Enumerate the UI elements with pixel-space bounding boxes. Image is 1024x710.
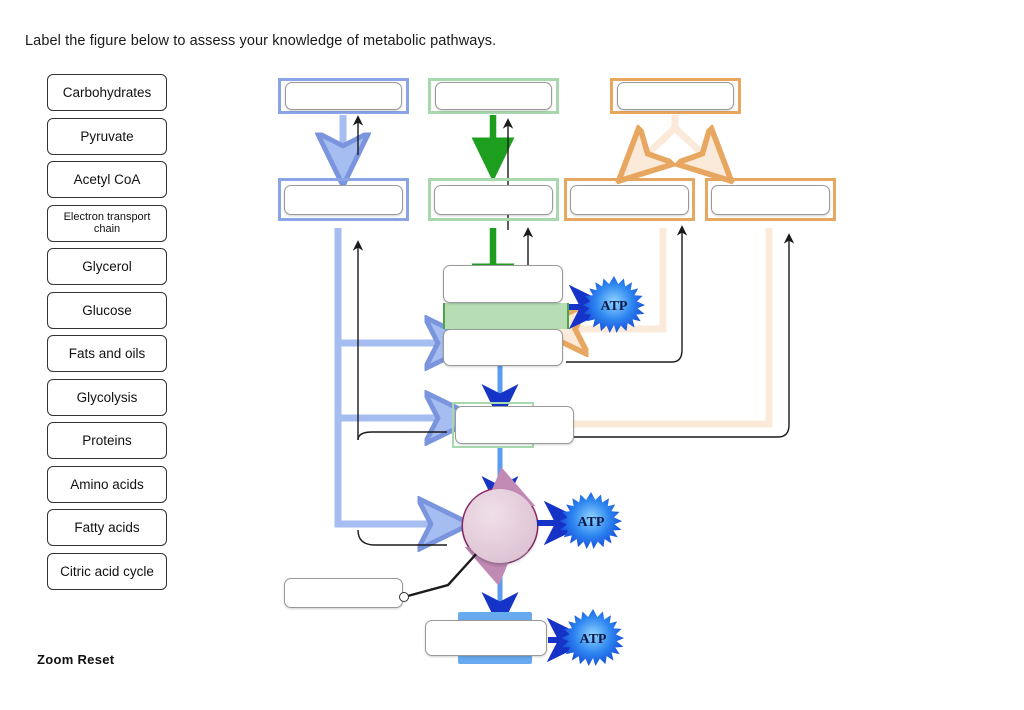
- blank-row2-mid[interactable]: [434, 185, 553, 215]
- blank-electron-transport-chain[interactable]: [425, 620, 547, 656]
- atp-badge-glycolysis: ATP: [583, 276, 645, 338]
- blank-center-upper[interactable]: [443, 265, 563, 303]
- metabolic-pathway-diagram: ATP ATP ATP: [0, 0, 1024, 710]
- mitochondrion-membrane-band: [443, 303, 569, 329]
- atp-badge-citric-acid-cycle: ATP: [560, 492, 622, 554]
- atp-badge-electron-transport-chain: ATP: [562, 609, 624, 671]
- blank-center-lower[interactable]: [443, 329, 563, 366]
- orange-pathway-arrows: [566, 115, 769, 424]
- citric-acid-cycle-disc: [463, 489, 537, 563]
- blank-row2-right-b[interactable]: [711, 185, 830, 215]
- blank-row2-right-a[interactable]: [570, 185, 689, 215]
- blank-top-left[interactable]: [285, 82, 402, 110]
- blank-top-mid[interactable]: [435, 82, 552, 110]
- blank-callout[interactable]: [284, 578, 403, 608]
- blank-top-right[interactable]: [617, 82, 734, 110]
- blank-glycolysis[interactable]: [455, 406, 574, 444]
- callout-anchor-dot: [399, 592, 409, 602]
- blank-row2-left[interactable]: [284, 185, 403, 215]
